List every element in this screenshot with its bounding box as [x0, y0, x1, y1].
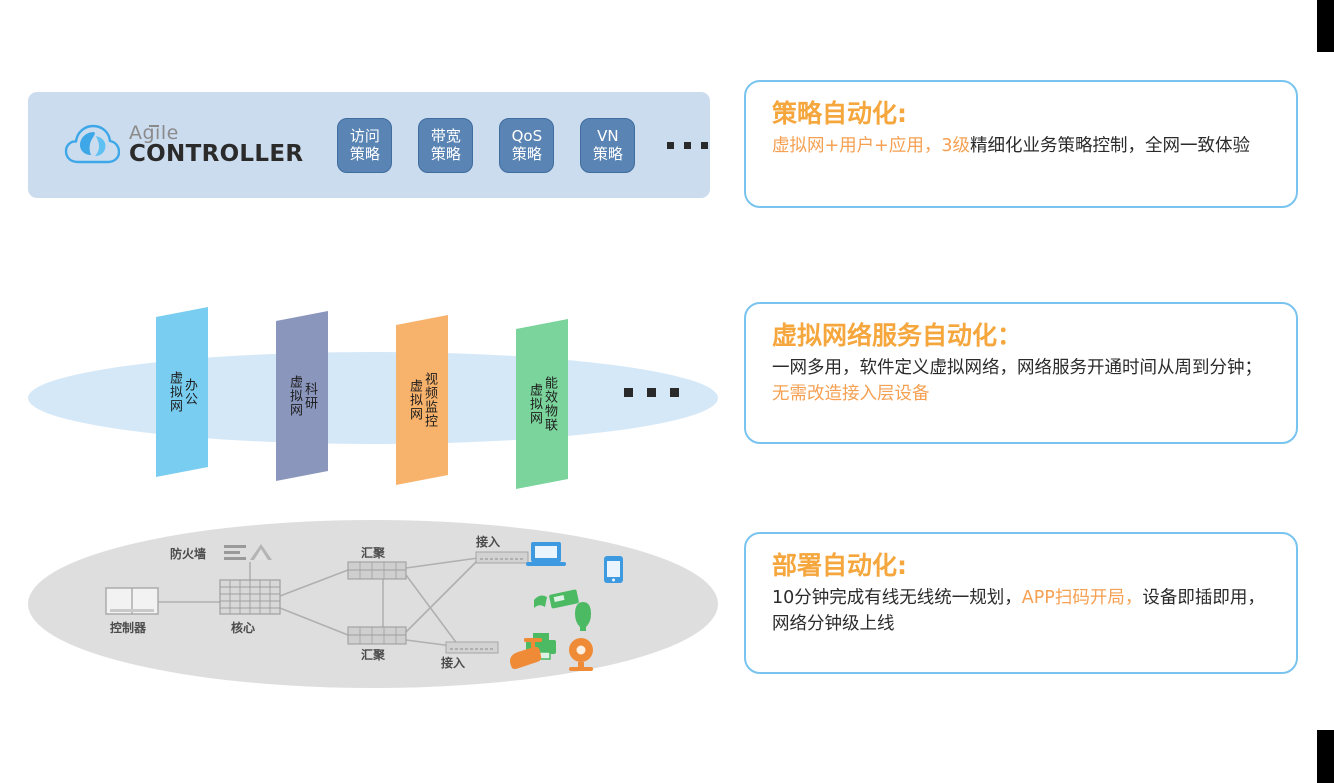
aggregation-switch-bottom-icon	[348, 627, 406, 644]
policy-ellipsis-icon	[667, 142, 708, 149]
tablet-icon	[604, 556, 623, 583]
controller-device-icon	[106, 588, 158, 614]
top-right-black-bar	[1317, 0, 1334, 52]
card-body-highlight: 虚拟网+用户+应用，3级	[772, 136, 970, 156]
policy-vn-line2: 策略	[593, 145, 623, 163]
card-body-highlight: APP扫码开局，	[1022, 588, 1143, 608]
policy-button-bandwidth[interactable]: 带宽 策略	[418, 118, 473, 173]
policy-qos-line2: 策略	[512, 145, 542, 163]
policy-button-group: 访问 策略 带宽 策略 QoS 策略 VN 策略	[337, 118, 708, 173]
topology-label-access-top: 接入	[476, 533, 500, 550]
lamp-icon	[575, 602, 591, 631]
webcam-icon	[569, 638, 593, 671]
laptop-icon	[526, 542, 566, 566]
agile-controller-bar: Agile CONTROLLER 访问 策略 带宽 策略 QoS 策略 VN 策…	[28, 92, 710, 198]
card-body-policy-automation: 虚拟网+用户+应用，3级精细化业务策略控制，全网一致体验	[772, 133, 1274, 159]
feature-card-deployment-automation: 部署自动化: 10分钟完成有线无线统一规划，APP扫码开局，设备即插即用，网络分…	[744, 532, 1298, 674]
policy-access-line1: 访问	[350, 127, 380, 145]
vn-slab-energy-iot: 能效物联 虚拟网	[516, 319, 568, 489]
policy-button-access[interactable]: 访问 策略	[337, 118, 392, 173]
vn-slab-research: 科研 虚拟网	[276, 311, 328, 481]
card-title-policy-automation: 策略自动化:	[772, 98, 1274, 130]
core-switch-icon	[220, 580, 280, 614]
feature-card-policy-automation: 策略自动化: 虚拟网+用户+应用，3级精细化业务策略控制，全网一致体验	[744, 80, 1298, 208]
vn-slab-video-label: 视频监控	[422, 372, 437, 428]
card-body-highlight: 无需改造接入层设备	[772, 384, 930, 404]
card-body-plain: 一网多用，软件定义虚拟网络，网络服务开通时间从周到分钟；	[772, 358, 1262, 378]
feature-card-virtual-network-service: 虚拟网络服务自动化： 一网多用，软件定义虚拟网络，网络服务开通时间从周到分钟；无…	[744, 302, 1298, 444]
policy-button-qos[interactable]: QoS 策略	[499, 118, 554, 173]
access-switch-top-icon	[476, 552, 528, 563]
vn-slab-video-sublabel: 虚拟网	[407, 379, 422, 421]
policy-bandwidth-line1: 带宽	[431, 127, 461, 145]
vn-slab-energy-sublabel: 虚拟网	[527, 383, 542, 425]
firewall-device-icon	[224, 544, 272, 560]
access-switch-bottom-icon	[446, 642, 498, 653]
macron-bar	[149, 125, 159, 127]
topology-label-core: 核心	[231, 619, 255, 636]
topology-label-aggregation-bottom: 汇聚	[361, 646, 385, 663]
card-body-virtual-network-service: 一网多用，软件定义虚拟网络，网络服务开通时间从周到分钟；无需改造接入层设备	[772, 355, 1274, 407]
policy-button-vn[interactable]: VN 策略	[580, 118, 635, 173]
cloud-icon	[64, 122, 120, 168]
vn-ellipsis-icon	[624, 388, 679, 397]
agile-controller-logo: Agile CONTROLLER	[64, 122, 303, 168]
vn-slab-research-sublabel: 虚拟网	[287, 375, 302, 417]
policy-vn-line1: VN	[597, 127, 618, 145]
air-conditioner-icon	[534, 589, 579, 609]
topology-label-controller: 控制器	[110, 619, 146, 636]
topology-label-firewall: 防火墙	[170, 545, 206, 562]
topology-label-aggregation-top: 汇聚	[361, 544, 385, 561]
policy-qos-line1: QoS	[512, 127, 543, 145]
card-body-plain-1: 10分钟完成有线无线统一规划，	[772, 588, 1022, 608]
virtual-network-ellipse	[28, 352, 718, 444]
virtual-network-diagram: 办公 虚拟网 科研 虚拟网 视频监控 虚拟网 能效物联 虚拟网	[28, 300, 718, 495]
network-topology-diagram: 控制器 防火墙 核心 汇聚 汇聚 接入 接入	[28, 520, 718, 688]
vn-slab-office-sublabel: 虚拟网	[167, 371, 182, 413]
vn-slab-energy-label: 能效物联	[542, 376, 557, 432]
card-title-virtual-network-service: 虚拟网络服务自动化：	[772, 320, 1274, 352]
aggregation-switch-top-icon	[348, 562, 406, 579]
vn-slab-research-label: 科研	[302, 382, 317, 410]
logo-controller-text: CONTROLLER	[129, 143, 303, 166]
policy-bandwidth-line2: 策略	[431, 145, 461, 163]
vn-slab-office-label: 办公	[182, 378, 197, 406]
vn-slab-video-surveillance: 视频监控 虚拟网	[396, 315, 448, 485]
card-body-deployment-automation: 10分钟完成有线无线统一规划，APP扫码开局，设备即插即用，网络分钟级上线	[772, 585, 1274, 637]
card-title-deployment-automation: 部署自动化:	[772, 550, 1274, 582]
policy-access-line2: 策略	[350, 145, 380, 163]
vn-slab-office: 办公 虚拟网	[156, 307, 208, 477]
bottom-right-black-bar	[1317, 730, 1334, 783]
card-body-plain: 精细化业务策略控制，全网一致体验	[970, 136, 1250, 156]
topology-label-access-bottom: 接入	[441, 654, 465, 671]
